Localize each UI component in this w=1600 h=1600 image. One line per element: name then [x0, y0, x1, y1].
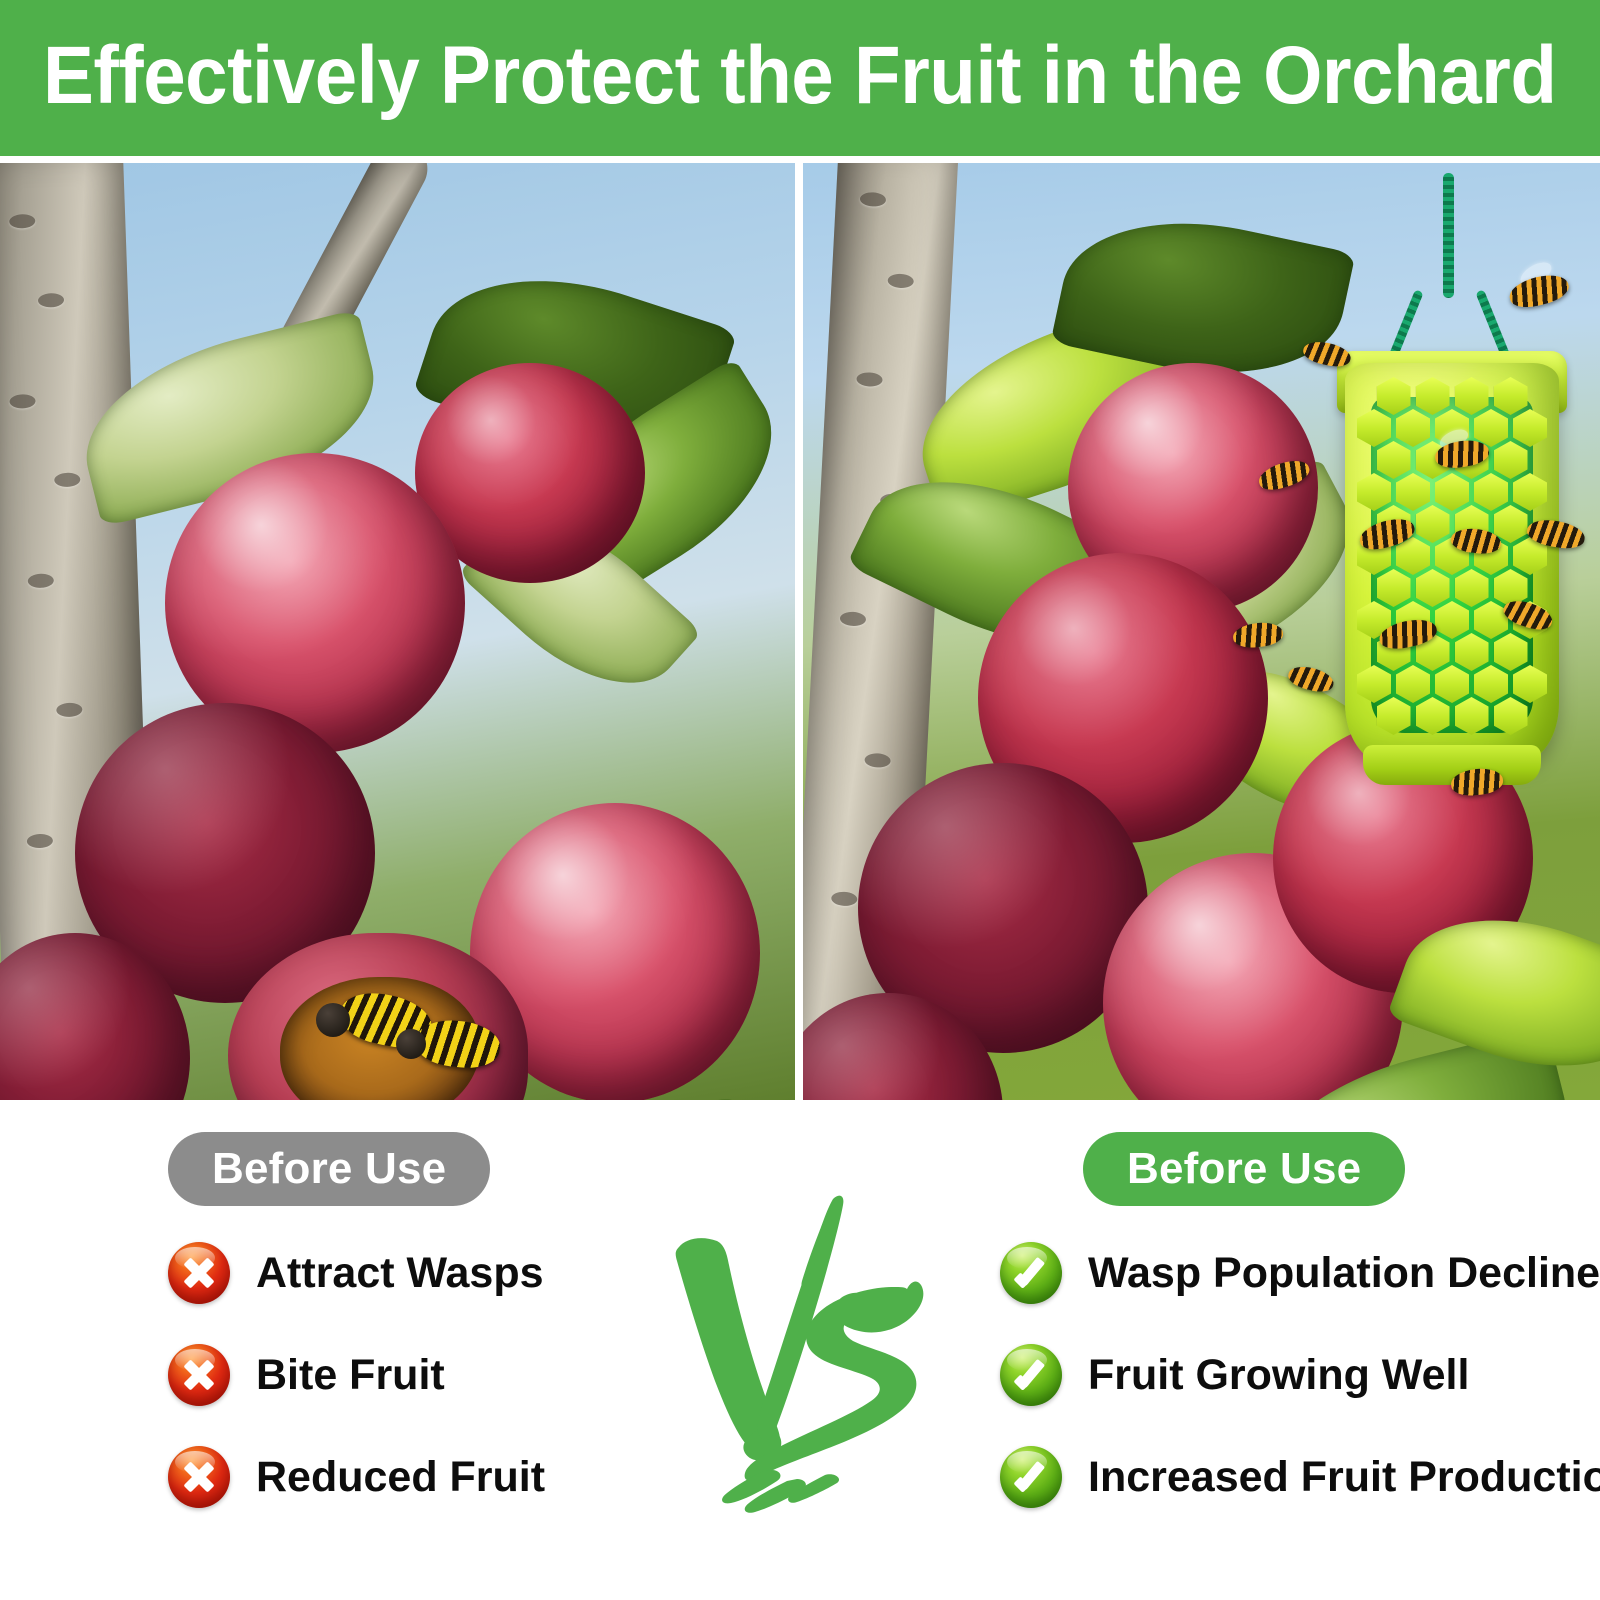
list-item-label: Fruit Growing Well: [1088, 1354, 1469, 1397]
list-item-label: Increased Fruit Production: [1088, 1456, 1600, 1499]
before-use-label: Before Use: [212, 1144, 446, 1194]
infographic-page: Effectively Protect the Fruit in the Orc…: [0, 0, 1600, 1600]
trap-honeycomb-lattice: [1345, 363, 1559, 763]
photo-before-use: [0, 163, 795, 1100]
check-circle-icon: [1000, 1242, 1062, 1304]
list-item-label: Wasp Population Decline: [1088, 1252, 1600, 1295]
header-banner: Effectively Protect the Fruit in the Orc…: [0, 0, 1600, 156]
wasp-head: [316, 1003, 350, 1037]
check-circle-icon: [1000, 1344, 1062, 1406]
check-circle-icon: [1000, 1446, 1062, 1508]
photo-strip: [0, 163, 1600, 1100]
list-item-label: Bite Fruit: [256, 1354, 445, 1397]
list-item: Increased Fruit Production: [1000, 1444, 1580, 1510]
photo-after-use: [803, 163, 1600, 1100]
list-item: Reduced Fruit: [168, 1444, 728, 1510]
after-use-label: Before Use: [1127, 1144, 1361, 1194]
after-use-list: Wasp Population Decline Fruit Growing We…: [1000, 1240, 1580, 1546]
list-item: Wasp Population Decline: [1000, 1240, 1580, 1306]
x-circle-icon: [168, 1242, 230, 1304]
wasp: [1507, 270, 1572, 312]
before-use-list: Attract Wasps Bite Fruit Reduced Fruit: [168, 1240, 728, 1546]
before-use-badge: Before Use: [168, 1132, 490, 1206]
list-item: Bite Fruit: [168, 1342, 728, 1408]
vs-divider-icon: [655, 1185, 955, 1515]
page-title: Effectively Protect the Fruit in the Orc…: [43, 35, 1557, 121]
trap-body: [1345, 363, 1559, 763]
after-use-badge: Before Use: [1083, 1132, 1405, 1206]
list-item: Fruit Growing Well: [1000, 1342, 1580, 1408]
list-item-label: Reduced Fruit: [256, 1456, 545, 1499]
wasp-head: [396, 1029, 426, 1059]
list-item-label: Attract Wasps: [256, 1252, 544, 1295]
trap-hanging-rope: [1443, 173, 1454, 298]
wasp-trap-product: [1323, 173, 1583, 813]
x-circle-icon: [168, 1446, 230, 1508]
list-item: Attract Wasps: [168, 1240, 728, 1306]
x-circle-icon: [168, 1344, 230, 1406]
